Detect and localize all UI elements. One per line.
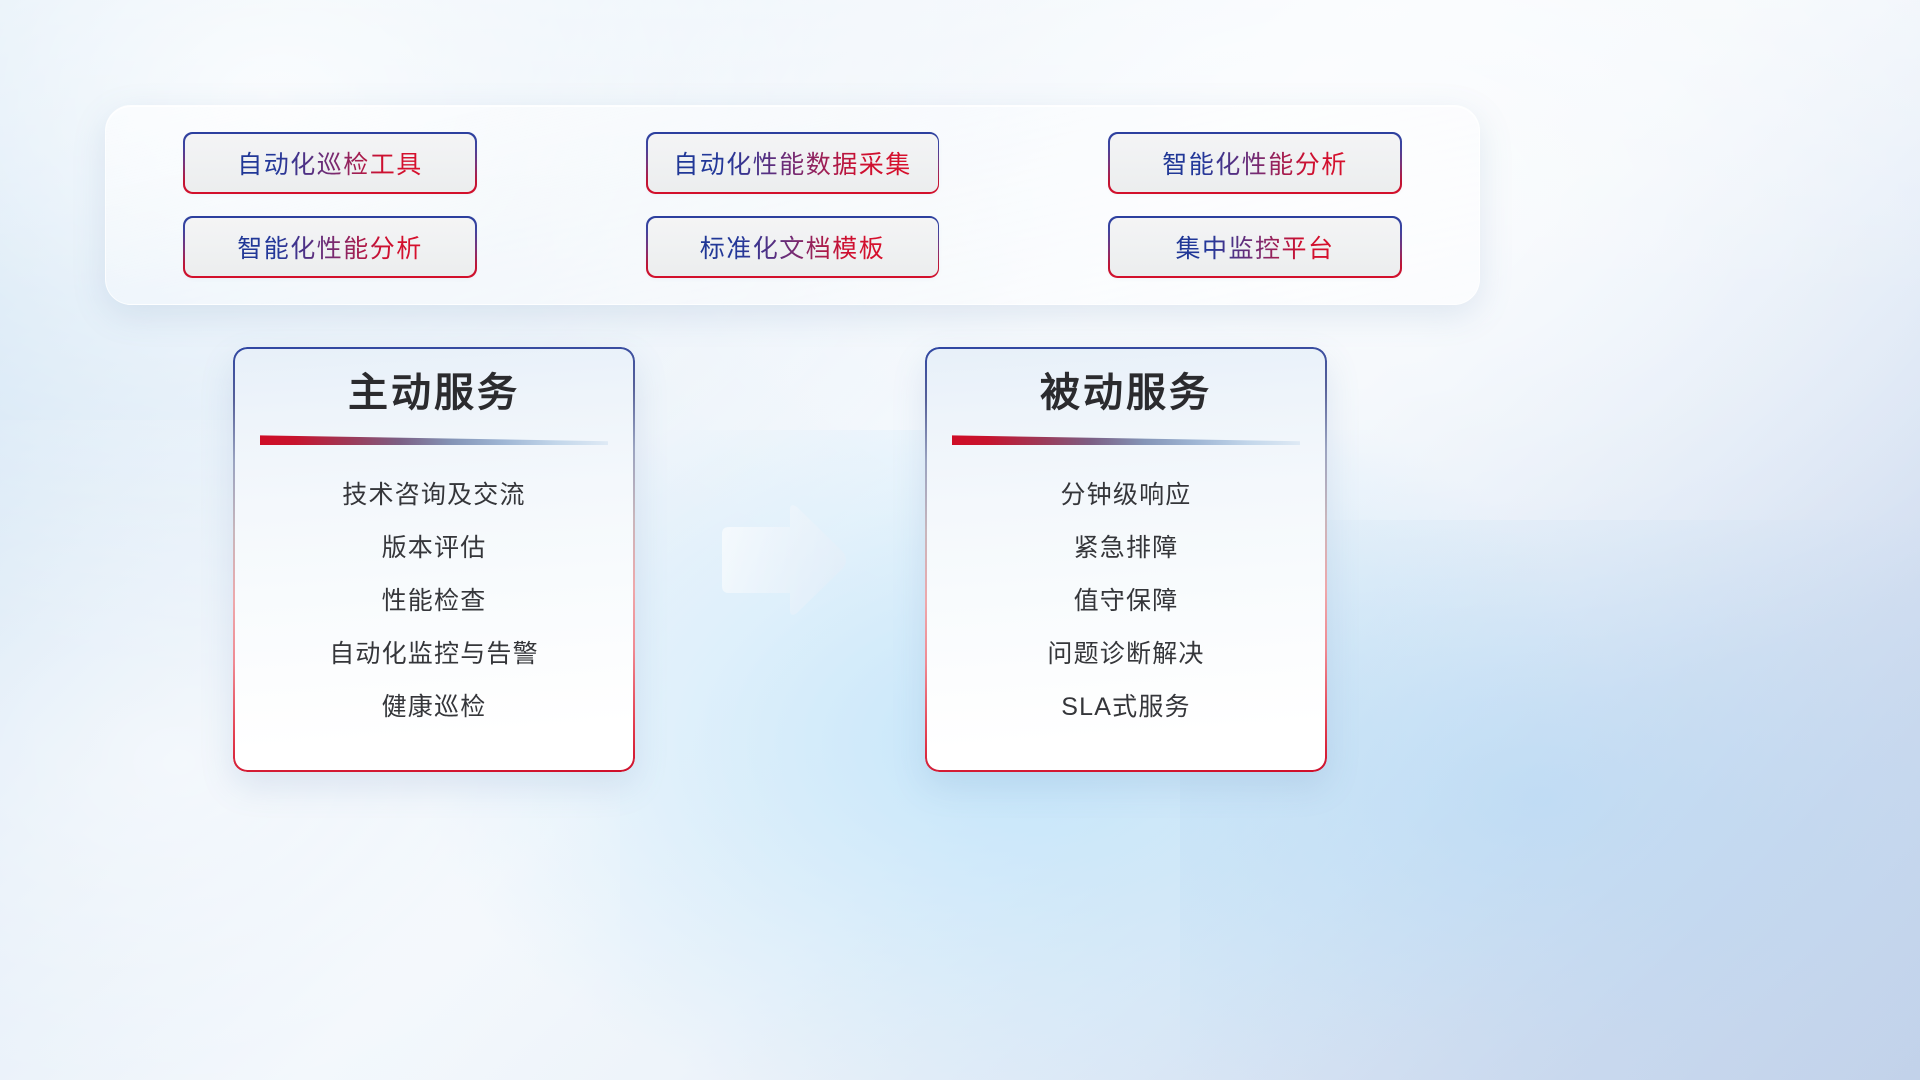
capability-panel: 自动化巡检工具 自动化性能数据采集 智能化性能分析 智能化性能分析 标准化文档模…	[105, 105, 1480, 305]
service-card-body: 被动服务 分钟级响应 紧急排障 值守保障 问题诊断解决 SLA式服务	[927, 349, 1326, 771]
capability-pill-1[interactable]: 自动化巡检工具	[185, 134, 475, 192]
capability-pill-label: 智能化性能分析	[237, 229, 423, 265]
title-divider	[260, 435, 608, 445]
arrow-right-icon	[712, 500, 852, 620]
capability-pill-4[interactable]: 智能化性能分析	[185, 218, 475, 276]
service-card-reactive[interactable]: 被动服务 分钟级响应 紧急排障 值守保障 问题诊断解决 SLA式服务	[925, 347, 1327, 772]
service-card-title: 主动服务	[348, 371, 520, 416]
service-item: 问题诊断解决	[1047, 628, 1204, 681]
slide-canvas: 自动化巡检工具 自动化性能数据采集 智能化性能分析 智能化性能分析 标准化文档模…	[0, 0, 1920, 1080]
capability-pill-label: 自动化巡检工具	[237, 145, 423, 181]
capability-pill-3[interactable]: 智能化性能分析	[1110, 134, 1400, 192]
service-item: 紧急排障	[1074, 522, 1179, 575]
service-item: 分钟级响应	[1060, 469, 1191, 522]
capability-pill-5[interactable]: 标准化文档模板	[648, 218, 938, 276]
capability-pill-label: 智能化性能分析	[1162, 145, 1348, 181]
capability-pill-grid: 自动化巡检工具 自动化性能数据采集 智能化性能分析 智能化性能分析 标准化文档模…	[106, 106, 1479, 304]
capability-pill-label: 标准化文档模板	[700, 229, 886, 265]
flow-arrow	[712, 500, 852, 620]
capability-pill-label: 集中监控平台	[1175, 229, 1334, 265]
capability-pill-label: 自动化性能数据采集	[673, 145, 912, 181]
service-card-proactive[interactable]: 主动服务 技术咨询及交流 版本评估 性能检查 自动化监控与告警 健康巡检	[233, 347, 635, 772]
service-item: 值守保障	[1074, 575, 1179, 628]
title-divider	[952, 435, 1300, 445]
service-item: 性能检查	[382, 575, 487, 628]
capability-pill-2[interactable]: 自动化性能数据采集	[648, 134, 938, 192]
service-item: SLA式服务	[1061, 681, 1190, 734]
service-item: 技术咨询及交流	[342, 469, 525, 522]
service-card-title: 被动服务	[1040, 371, 1212, 416]
service-item-list: 分钟级响应 紧急排障 值守保障 问题诊断解决 SLA式服务	[927, 469, 1326, 734]
service-item-list: 技术咨询及交流 版本评估 性能检查 自动化监控与告警 健康巡检	[235, 469, 634, 734]
capability-pill-6[interactable]: 集中监控平台	[1110, 218, 1400, 276]
service-card-body: 主动服务 技术咨询及交流 版本评估 性能检查 自动化监控与告警 健康巡检	[235, 349, 634, 771]
service-item: 版本评估	[382, 522, 487, 575]
service-item: 健康巡检	[382, 681, 487, 734]
service-item: 自动化监控与告警	[329, 628, 539, 681]
